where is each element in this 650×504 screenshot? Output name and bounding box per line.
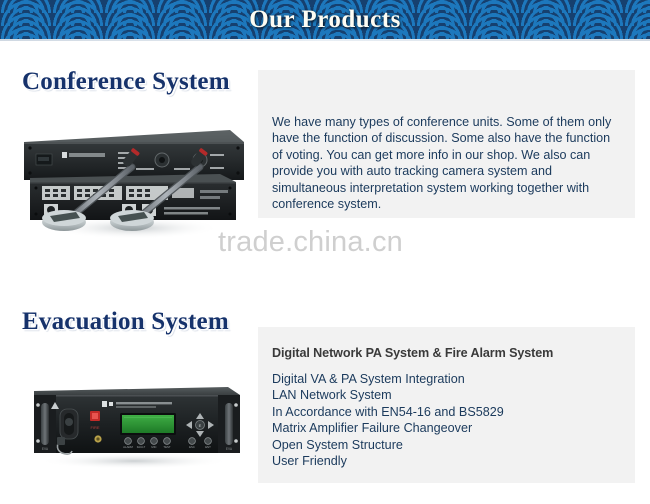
svg-text:ALARM: ALARM [123, 445, 133, 449]
svg-text:TEST: TEST [163, 445, 170, 449]
list-item: LAN Network System [272, 387, 504, 403]
banner-underline-divider [0, 39, 650, 41]
evacuation-system-heading: Digital Network PA System & Fire Alarm S… [272, 346, 553, 360]
list-item: Matrix Amplifier Failure Changeover [272, 420, 504, 436]
evacuation-system-feature-list: Digital VA & PA System Integration LAN N… [272, 371, 504, 469]
evacuation-system-text-panel: Digital Network PA System & Fire Alarm S… [258, 327, 635, 483]
conference-system-description: We have many types of conference units. … [272, 114, 620, 212]
section-title-conference-system: Conference System [22, 68, 230, 96]
svg-text:E: E [199, 423, 202, 428]
svg-text:MIC: MIC [151, 445, 156, 449]
svg-text:EVA: EVA [42, 447, 49, 451]
svg-text:FIRE: FIRE [90, 425, 99, 430]
svg-text:ENT: ENT [205, 445, 211, 449]
list-item: Digital VA & PA System Integration [272, 371, 504, 387]
product-photo-evacuation-system: EVA EVA FIRE E [14, 377, 254, 469]
list-item: Open System Structure [272, 437, 504, 453]
site-watermark: trade.china.cn [218, 226, 403, 259]
product-photo-conference-system [14, 112, 254, 240]
svg-text:EVA: EVA [226, 447, 233, 451]
section-title-evacuation-system: Evacuation System [22, 308, 229, 336]
svg-text:FAULT: FAULT [137, 445, 146, 449]
svg-text:ESC: ESC [189, 445, 195, 449]
list-item: User Friendly [272, 453, 504, 469]
page-title: Our Products [0, 0, 650, 41]
conference-system-text-panel: We have many types of conference units. … [258, 70, 635, 218]
page-header-banner: Our Products [0, 0, 650, 41]
list-item: In Accordance with EN54-16 and BS5829 [272, 404, 504, 420]
